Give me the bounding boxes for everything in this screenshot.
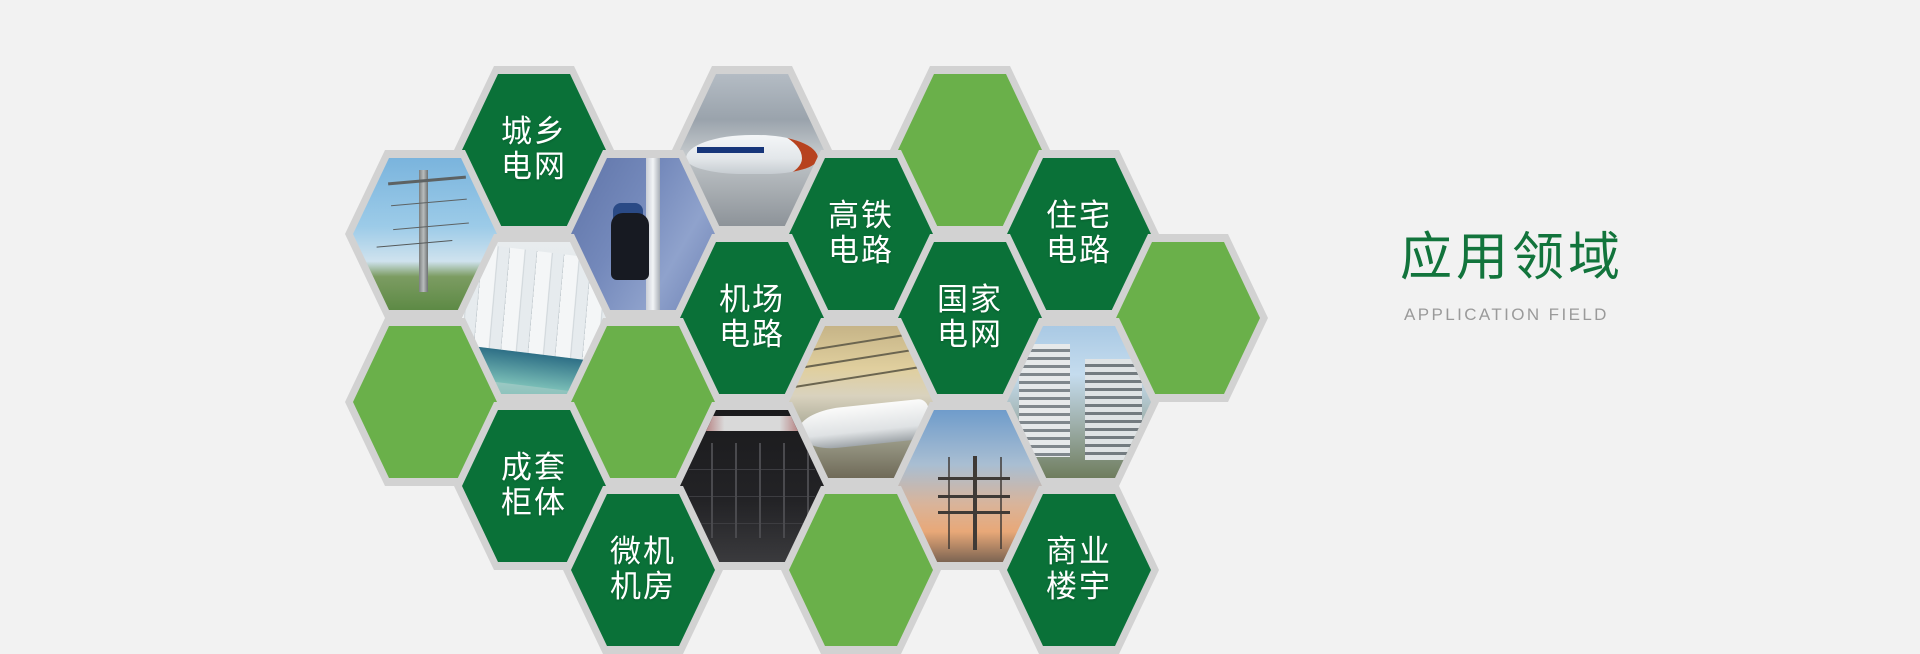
application-field-banner: 城乡 电网高铁 电路住宅 电路机场 电路国家 电网成套 柜体微机 机房商业 楼宇… <box>0 0 1920 650</box>
hex-label-complete-cabinet: 成套 柜体 <box>501 451 567 520</box>
hex-computer-room[interactable]: 微机 机房 <box>563 486 723 654</box>
hex-label-airport-circuit: 机场 电路 <box>719 283 785 352</box>
page-subtitle: APPLICATION FIELD <box>1404 305 1860 325</box>
hex-label-residential-circuit: 住宅 电路 <box>1046 199 1112 268</box>
hex-label-high-speed-rail: 高铁 电路 <box>828 199 894 268</box>
hexagon-grid: 城乡 电网高铁 电路住宅 电路机场 电路国家 电网成套 柜体微机 机房商业 楼宇 <box>0 0 1340 650</box>
hex-label-state-grid: 国家 电网 <box>937 283 1003 352</box>
page-title: 应用领域 <box>1400 230 1860 287</box>
title-block: 应用领域 APPLICATION FIELD <box>1400 230 1860 325</box>
hex-filler-bottom[interactable] <box>781 486 941 654</box>
hex-commercial-building[interactable]: 商业 楼宇 <box>999 486 1159 654</box>
hex-label-computer-room: 微机 机房 <box>610 535 676 604</box>
hex-label-commercial-building: 商业 楼宇 <box>1046 535 1112 604</box>
hex-label-urban-rural-grid: 城乡 电网 <box>501 115 567 184</box>
